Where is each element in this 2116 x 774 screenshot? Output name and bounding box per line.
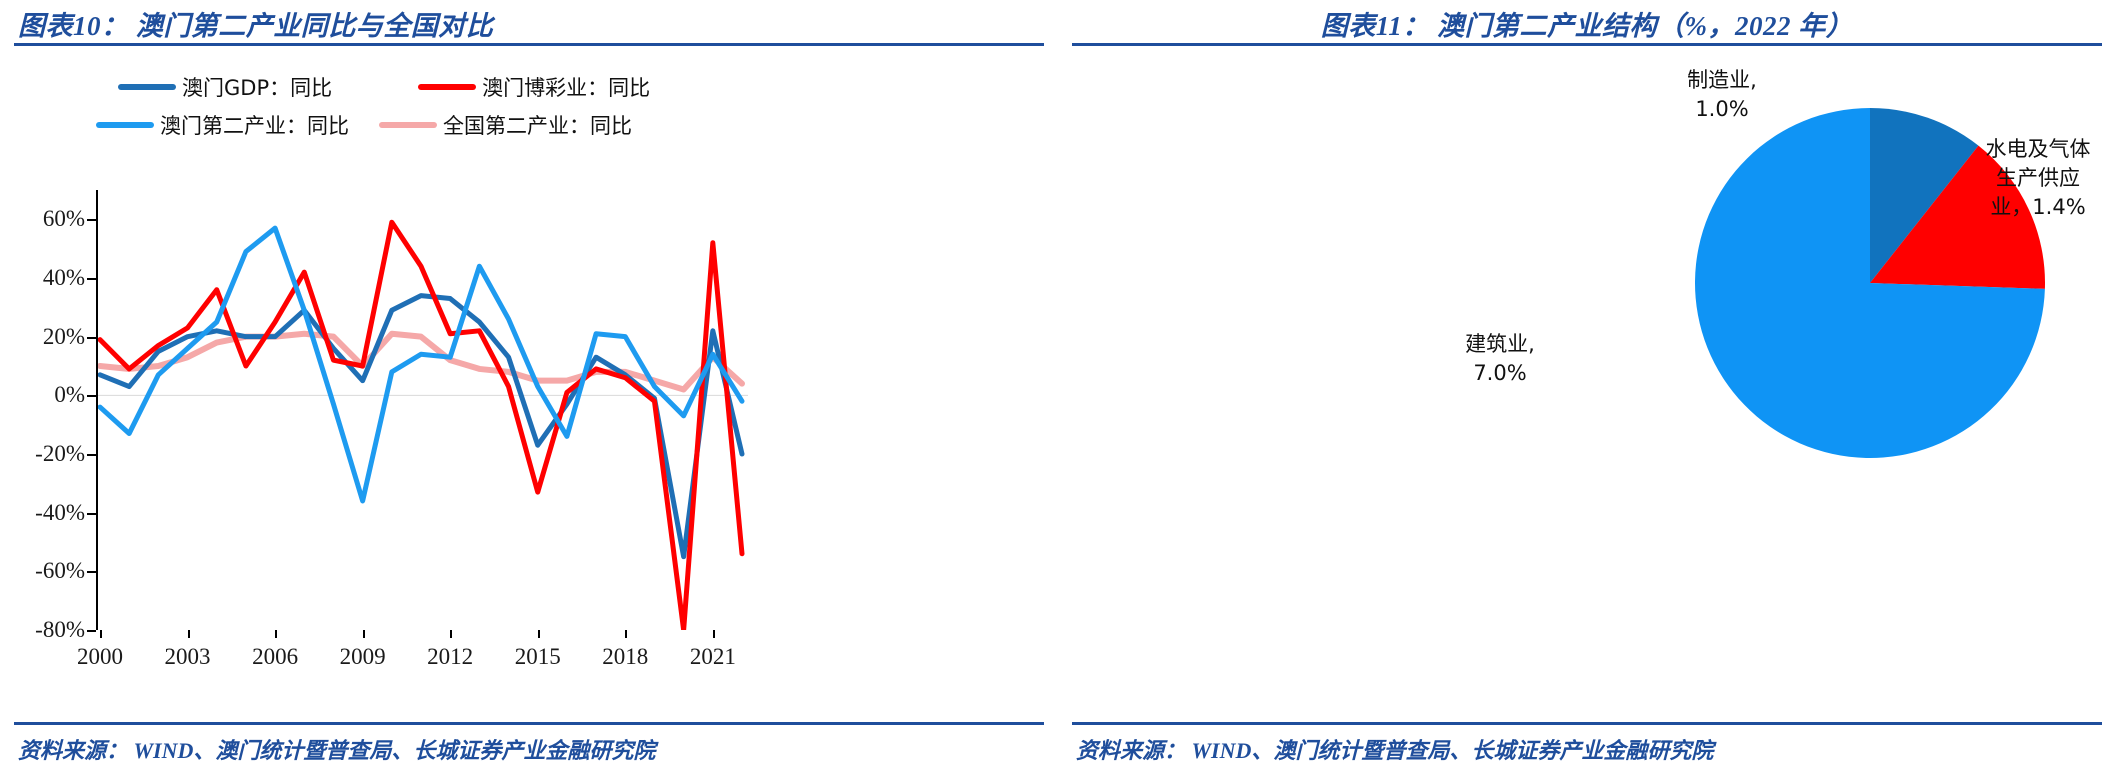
line-series-1	[100, 222, 742, 630]
x-tick-label: 2012	[427, 644, 473, 670]
report-figures-page: 图表10： 澳门第二产业同比与全国对比 澳门GDP：同比 澳门博彩业：同比 澳门…	[0, 0, 2116, 774]
legend-item-macau-secondary[interactable]: 澳门第二产业：同比	[96, 110, 349, 140]
legend-item-macau-gaming[interactable]: 澳门博彩业：同比	[418, 72, 650, 102]
legend-label-macau-gdp: 澳门GDP：同比	[182, 72, 332, 102]
pie-label-manufacturing-value: 1.0%	[1622, 95, 1822, 124]
figure-10-footer-rule	[14, 722, 1044, 725]
y-tick-label: 60%	[43, 206, 85, 232]
x-tick	[363, 630, 365, 638]
x-tick-label: 2018	[602, 644, 648, 670]
legend-swatch-macau-gdp	[118, 84, 176, 90]
x-tick	[275, 630, 277, 638]
panel-divider	[1058, 0, 1060, 774]
x-tick	[188, 630, 190, 638]
legend-swatch-macau-secondary	[96, 122, 154, 128]
y-tick	[87, 337, 96, 339]
pie-label-construction-name: 建筑业,	[1400, 330, 1600, 359]
x-tick-label: 2000	[77, 644, 123, 670]
figure-10-title: 图表10： 澳门第二产业同比与全国对比	[18, 4, 493, 43]
legend-swatch-macau-gaming	[418, 84, 476, 90]
legend-label-macau-gaming: 澳门博彩业：同比	[482, 72, 650, 102]
figure-10-title-rule	[14, 43, 1044, 46]
y-tick	[87, 513, 96, 515]
line-chart-plot-area: 60%40%20%0%-20%-40%-60%-80% 200020032006…	[96, 190, 748, 630]
y-tick	[87, 395, 96, 397]
x-tick-label: 2021	[690, 644, 736, 670]
figure-10-panel: 图表10： 澳门第二产业同比与全国对比 澳门GDP：同比 澳门博彩业：同比 澳门…	[0, 0, 1058, 774]
y-tick-label: -40%	[35, 500, 85, 526]
y-tick	[87, 454, 96, 456]
pie-label-utilities-name-2: 生产供应	[1938, 164, 2116, 193]
y-tick-label: -80%	[35, 617, 85, 643]
legend-label-national-secondary: 全国第二产业：同比	[443, 110, 632, 140]
figure-11-source: 资料来源： WIND、澳门统计暨普查局、长城证券产业金融研究院	[1076, 733, 1713, 765]
x-tick	[713, 630, 715, 638]
pie-label-manufacturing: 制造业, 1.0%	[1622, 66, 1822, 124]
x-tick	[625, 630, 627, 638]
figure-11-footer-rule	[1072, 722, 2102, 725]
figure-10-legend: 澳门GDP：同比 澳门博彩业：同比 澳门第二产业：同比 全国第二产业：同比	[96, 68, 736, 144]
figure-11-panel: 图表11： 澳门第二产业结构（%，2022 年） 制造业, 1.0% 水电及气体…	[1058, 0, 2116, 774]
legend-row-2: 澳门第二产业：同比 全国第二产业：同比	[96, 106, 736, 144]
pie-label-utilities-name-1: 水电及气体	[1938, 135, 2116, 164]
pie-label-utilities-value: 业，1.4%	[1938, 193, 2116, 222]
y-tick-label: -20%	[35, 441, 85, 467]
y-axis-line	[96, 190, 98, 630]
line-chart-svg	[96, 190, 748, 630]
y-tick	[87, 219, 96, 221]
y-tick	[87, 630, 96, 632]
y-tick-label: 20%	[43, 324, 85, 350]
figure-10-source: 资料来源： WIND、澳门统计暨普查局、长城证券产业金融研究院	[18, 733, 655, 765]
pie-label-construction: 建筑业, 7.0%	[1400, 330, 1600, 388]
y-tick	[87, 571, 96, 573]
x-tick-label: 2009	[340, 644, 386, 670]
y-tick-label: 40%	[43, 265, 85, 291]
x-tick	[538, 630, 540, 638]
pie-label-manufacturing-name: 制造业,	[1622, 66, 1822, 95]
y-tick	[87, 278, 96, 280]
x-tick	[100, 630, 102, 638]
legend-swatch-national-secondary	[379, 122, 437, 128]
legend-row-1: 澳门GDP：同比 澳门博彩业：同比	[96, 68, 736, 106]
legend-item-macau-gdp[interactable]: 澳门GDP：同比	[118, 72, 332, 102]
x-tick-label: 2003	[165, 644, 211, 670]
legend-label-macau-secondary: 澳门第二产业：同比	[160, 110, 349, 140]
legend-item-national-secondary[interactable]: 全国第二产业：同比	[379, 110, 632, 140]
figure-11-title-rule	[1072, 43, 2102, 46]
pie-label-construction-value: 7.0%	[1400, 359, 1600, 388]
x-tick-label: 2015	[515, 644, 561, 670]
figure-11-title: 图表11： 澳门第二产业结构（%，2022 年）	[1058, 4, 2116, 43]
x-tick-label: 2006	[252, 644, 298, 670]
y-tick-label: 0%	[54, 382, 85, 408]
y-tick-label: -60%	[35, 558, 85, 584]
pie-label-utilities: 水电及气体 生产供应 业，1.4%	[1938, 135, 2116, 222]
x-tick	[450, 630, 452, 638]
